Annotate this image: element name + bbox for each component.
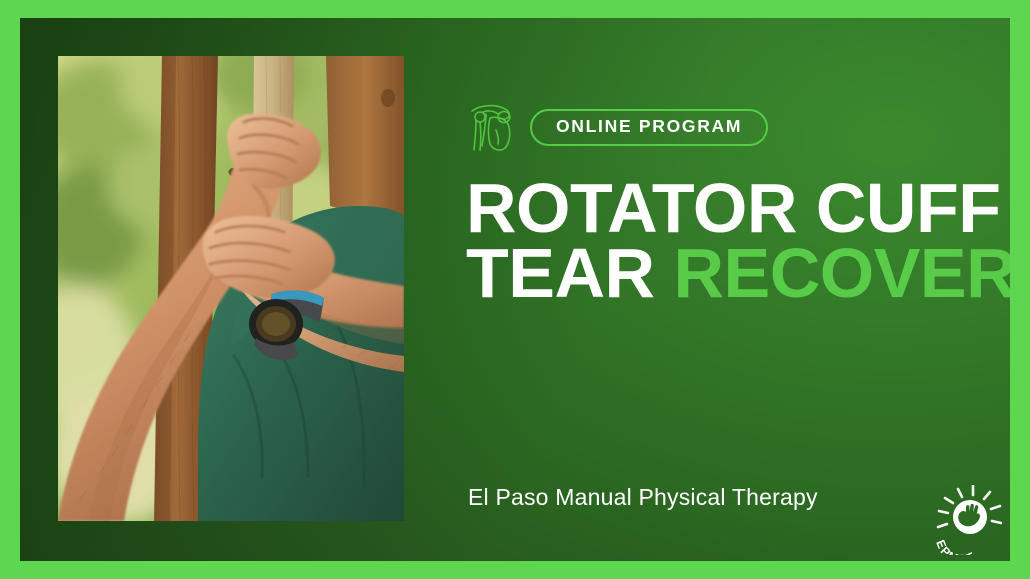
badge-row: ONLINE PROGRAM xyxy=(468,100,768,154)
hero-photo xyxy=(58,56,404,521)
banner-panel: ONLINE PROGRAM ROTATOR CUFF TEAR RECOVER… xyxy=(20,18,1010,561)
svg-text:EPMPT: EPMPT xyxy=(933,538,978,555)
content-column: ONLINE PROGRAM ROTATOR CUFF TEAR RECOVER… xyxy=(440,18,1010,561)
badge-label: ONLINE PROGRAM xyxy=(556,118,742,136)
headline-line-1: ROTATOR CUFF xyxy=(466,176,1010,241)
shoulder-anatomy-icon xyxy=(468,100,514,154)
promo-banner: ONLINE PROGRAM ROTATOR CUFF TEAR RECOVER… xyxy=(0,0,1030,579)
headline-line-2: TEAR RECOVERY xyxy=(466,241,1010,306)
online-program-badge[interactable]: ONLINE PROGRAM xyxy=(530,109,768,146)
page-title: ROTATOR CUFF TEAR RECOVERY xyxy=(466,176,1010,306)
brand-subtitle: El Paso Manual Physical Therapy xyxy=(468,484,818,511)
headline-recovery: RECOVERY xyxy=(674,234,1011,312)
epmpt-logo[interactable]: EPMPT xyxy=(926,485,1002,555)
headline-tear: TEAR xyxy=(466,234,674,312)
logo-letters: EPMPT xyxy=(933,538,978,555)
